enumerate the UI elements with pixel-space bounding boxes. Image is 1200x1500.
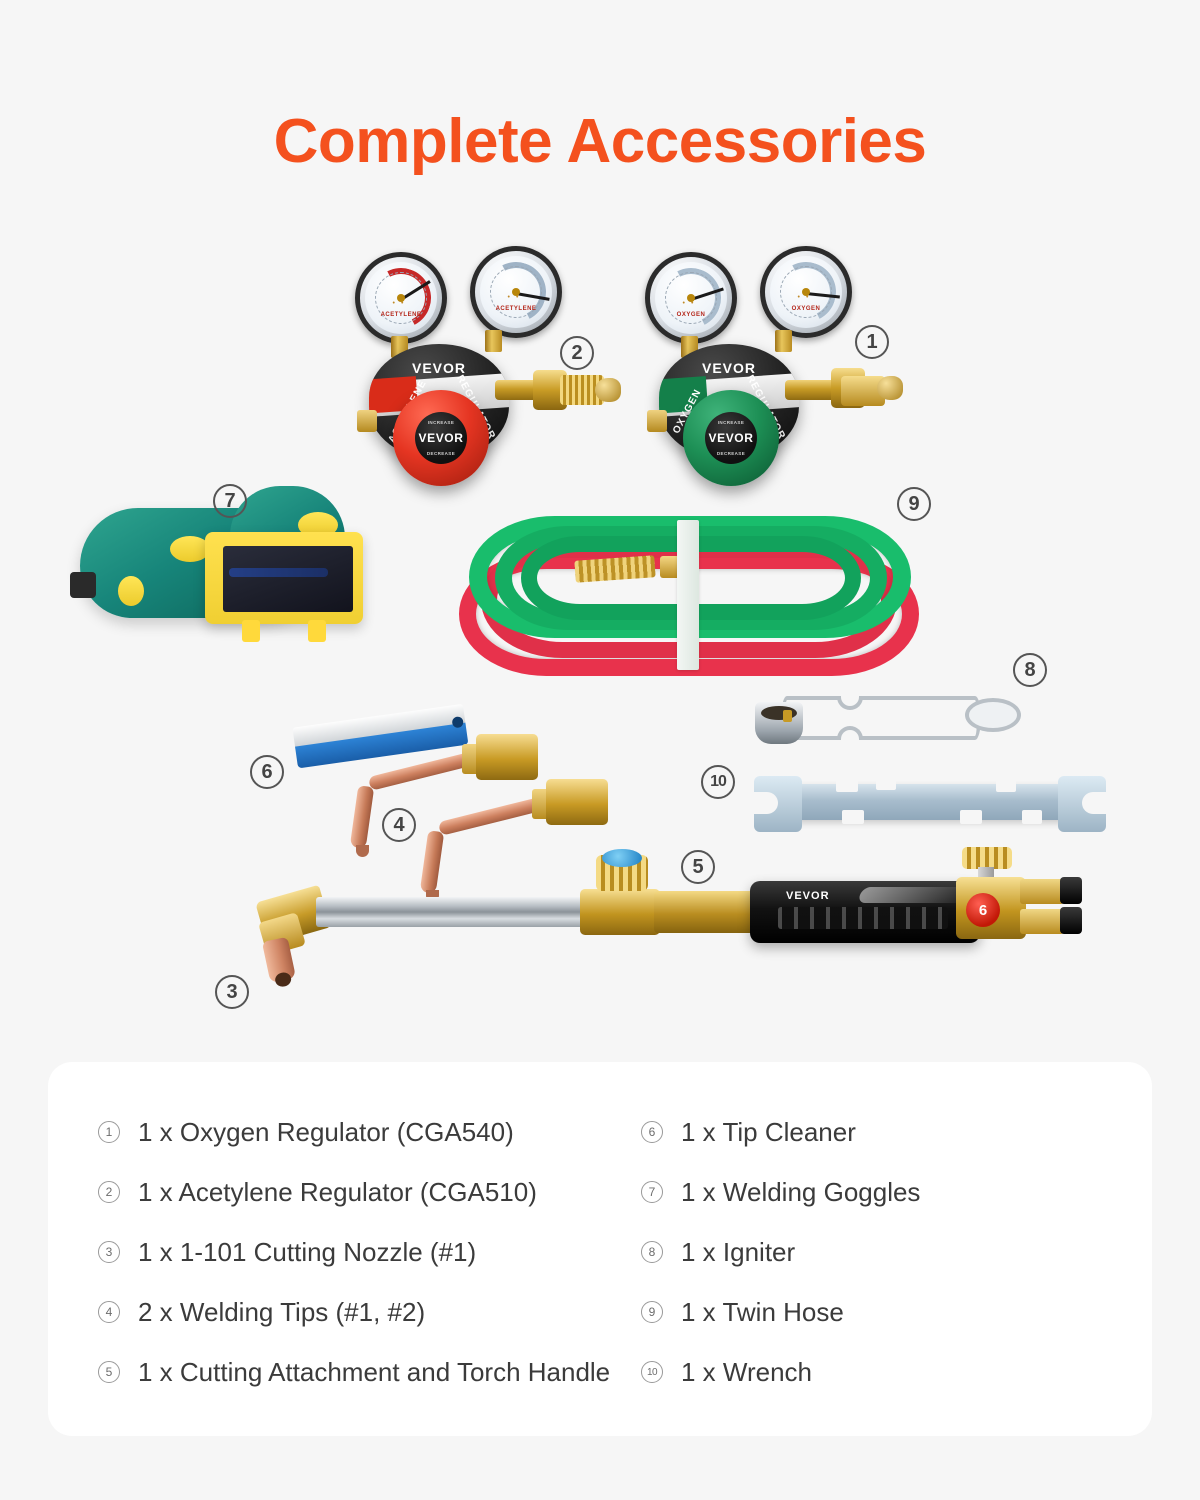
acetylene-regulator: •• ACETYLENE •• ACETYLENE — [355, 240, 605, 500]
igniter-flint — [783, 710, 792, 722]
legend-label: 1 x Wrench — [681, 1357, 812, 1388]
knob-increase-label: INCREASE — [705, 420, 757, 425]
legend-card: 1 1 x Oxygen Regulator (CGA540) 2 1 x Ac… — [48, 1062, 1152, 1436]
knob-cap: INCREASE VEVOR DECREASE — [415, 412, 467, 464]
goggles-strap-clip — [70, 572, 96, 598]
regulator-outlet-tip — [595, 378, 621, 402]
goggles-lens-tab-left — [242, 620, 260, 642]
wrench-jaw-left — [754, 776, 802, 832]
list-item: 6 1 x Tip Cleaner — [641, 1102, 1112, 1162]
callout-badge-2: 2 — [560, 336, 594, 370]
list-item: 8 1 x Igniter — [641, 1222, 1112, 1282]
wrench-jaw-right — [1058, 776, 1106, 832]
knob-brand: VEVOR — [418, 431, 463, 445]
wrench-notch-1 — [836, 778, 858, 792]
wrench-body — [772, 784, 1090, 820]
gauge-face: •• OXYGEN — [770, 256, 842, 328]
igniter — [755, 680, 1015, 760]
callout-badge-5: 5 — [681, 850, 715, 884]
gauge-hub — [802, 288, 810, 296]
list-item: 2 1 x Acetylene Regulator (CGA510) — [98, 1162, 605, 1222]
igniter-handle-ring — [965, 698, 1021, 732]
product-stage: •• ACETYLENE •• ACETYLENE — [0, 0, 1200, 1050]
torch-inlet-lower — [1020, 909, 1064, 934]
oxygen-gauge-right: •• OXYGEN — [760, 246, 852, 338]
acetylene-adjust-knob[interactable]: INCREASE VEVOR DECREASE — [393, 390, 489, 486]
acetylene-gauge-left: •• ACETYLENE — [355, 252, 447, 344]
legend-label: 1 x Cutting Attachment and Torch Handle — [138, 1357, 610, 1388]
torch-handle: VEVOR — [750, 881, 980, 943]
knob-increase-label: INCREASE — [415, 420, 467, 425]
gauge-stem-right — [485, 330, 502, 352]
regulator-side-nut — [357, 410, 377, 432]
goggles-dark-lens — [223, 546, 353, 612]
twin-hose — [455, 500, 925, 690]
gauge-face: •• ACETYLENE — [365, 262, 437, 334]
legend-number: 8 — [641, 1241, 663, 1263]
knob-decrease-label: DECREASE — [415, 451, 467, 456]
goggles-lens-tab-right — [308, 620, 326, 642]
legend-label: 1 x Igniter — [681, 1237, 795, 1268]
igniter-spring-arm — [781, 696, 981, 740]
knob-cap: INCREASE VEVOR DECREASE — [705, 412, 757, 464]
oxygen-gauge-left: •• OXYGEN — [645, 252, 737, 344]
callout-badge-9: 9 — [897, 487, 931, 521]
torch-chrome-tube — [316, 897, 584, 927]
list-item: 4 2 x Welding Tips (#1, #2) — [98, 1282, 605, 1342]
legend-label: 2 x Welding Tips (#1, #2) — [138, 1297, 425, 1328]
wrench-notch-2 — [876, 778, 896, 790]
legend-label: 1 x Oxygen Regulator (CGA540) — [138, 1117, 514, 1148]
legend-number: 1 — [98, 1121, 120, 1143]
callout-badge-6: 6 — [250, 755, 284, 789]
legend-number: 6 — [641, 1121, 663, 1143]
hose-strap — [677, 520, 699, 670]
torch-fuel-knob[interactable]: 6 — [966, 893, 1000, 927]
legend-number: 10 — [641, 1361, 663, 1383]
acetylene-gauge-right: •• ACETYLENE — [470, 246, 562, 338]
gauge-gas-label: OXYGEN — [770, 306, 842, 312]
legend-label: 1 x Twin Hose — [681, 1297, 844, 1328]
callout-badge-10: 10 — [701, 765, 735, 799]
gauge-gas-label: ACETYLENE — [480, 306, 552, 312]
torch-inlet-upper — [1020, 879, 1064, 904]
igniter-flint-cup — [755, 702, 803, 744]
knob-brand: VEVOR — [708, 431, 753, 445]
handle-grip-ribs — [778, 907, 948, 929]
torch-top-valve[interactable] — [962, 847, 1012, 869]
wrench-notch-4 — [960, 810, 982, 824]
list-item: 1 1 x Oxygen Regulator (CGA540) — [98, 1102, 605, 1162]
legend-label: 1 x Welding Goggles — [681, 1177, 920, 1208]
knob-decrease-label: DECREASE — [705, 451, 757, 456]
regulator-side-nut — [647, 410, 667, 432]
legend-number: 7 — [641, 1181, 663, 1203]
gauge-gas-label: OXYGEN — [655, 312, 727, 318]
wrench — [750, 770, 1110, 840]
torch-oxygen-valve-cap[interactable] — [602, 849, 642, 867]
callout-badge-3: 3 — [215, 975, 249, 1009]
callout-badge-4: 4 — [382, 808, 416, 842]
gauge-stem-right — [775, 330, 792, 352]
torch-brand: VEVOR — [786, 890, 830, 902]
wrench-notch-6 — [1022, 810, 1042, 824]
legend-number: 3 — [98, 1241, 120, 1263]
wrench-notch-3 — [842, 810, 864, 824]
welding-tip-bend — [350, 785, 374, 849]
gauge-face: •• ACETYLENE — [480, 256, 552, 328]
wrench-notch-5 — [996, 778, 1016, 792]
regulator-brand: VEVOR — [659, 360, 799, 376]
legend-label: 1 x 1-101 Cutting Nozzle (#1) — [138, 1237, 476, 1268]
accessories-infographic: Complete Accessories •• ACETYLENE •• — [0, 0, 1200, 1500]
gauge-hub — [687, 294, 695, 302]
list-item: 5 1 x Cutting Attachment and Torch Handl… — [98, 1342, 605, 1402]
gauge-gas-label: ACETYLENE — [365, 312, 437, 318]
cutting-attachment-and-torch: VEVOR 6 — [250, 855, 1100, 995]
list-item: 3 1 x 1-101 Cutting Nozzle (#1) — [98, 1222, 605, 1282]
list-item: 9 1 x Twin Hose — [641, 1282, 1112, 1342]
goggles-knob-top — [170, 536, 210, 562]
list-item: 7 1 x Welding Goggles — [641, 1162, 1112, 1222]
welding-tip-nut — [476, 734, 538, 780]
regulator-brand: VEVOR — [369, 360, 509, 376]
regulator-outlet-tip — [877, 376, 903, 400]
torch-mid-block — [580, 889, 660, 935]
legend-number: 4 — [98, 1301, 120, 1323]
callout-badge-7: 7 — [213, 484, 247, 518]
oxygen-regulator: •• OXYGEN •• OXYGEN — [645, 240, 895, 500]
legend-label: 1 x Tip Cleaner — [681, 1117, 856, 1148]
oxygen-adjust-knob[interactable]: INCREASE VEVOR DECREASE — [683, 390, 779, 486]
legend-grid: 1 1 x Oxygen Regulator (CGA540) 2 1 x Ac… — [98, 1102, 1112, 1402]
goggles-knob-side — [118, 576, 144, 606]
callout-badge-8: 8 — [1013, 653, 1047, 687]
welding-tip-nut — [546, 779, 608, 825]
gauge-face: •• OXYGEN — [655, 262, 727, 334]
legend-label: 1 x Acetylene Regulator (CGA510) — [138, 1177, 537, 1208]
legend-column-left: 1 1 x Oxygen Regulator (CGA540) 2 1 x Ac… — [98, 1102, 605, 1402]
welding-tip-tube — [438, 796, 546, 836]
legend-number: 9 — [641, 1301, 663, 1323]
legend-column-right: 6 1 x Tip Cleaner 7 1 x Welding Goggles … — [605, 1102, 1112, 1402]
list-item: 10 1 x Wrench — [641, 1342, 1112, 1402]
callout-badge-1: 1 — [855, 325, 889, 359]
torch-inlets — [1020, 877, 1090, 939]
legend-number: 5 — [98, 1361, 120, 1383]
gauge-hub — [397, 294, 405, 302]
torch-inlet-cap-lower — [1060, 907, 1082, 934]
gauge-hub — [512, 288, 520, 296]
legend-number: 2 — [98, 1181, 120, 1203]
torch-inlet-cap-upper — [1060, 877, 1082, 904]
goggles-lens-frame — [205, 532, 363, 624]
